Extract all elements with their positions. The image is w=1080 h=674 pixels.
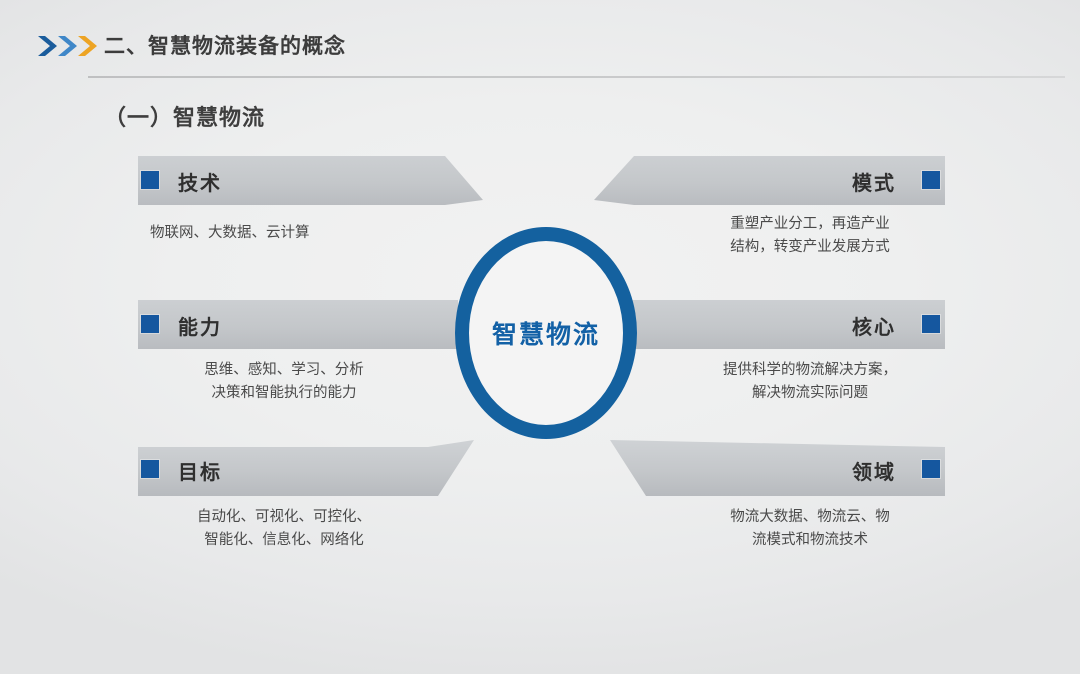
right-body-2: 提供科学的物流解决方案， 解决物流实际问题: [685, 359, 935, 405]
left-body-2: 思维、感知、学习、分析 决策和智能执行的能力: [150, 359, 418, 405]
left-body-1: 物联网、大数据、云计算: [150, 222, 430, 245]
right-bullet-2: [922, 315, 940, 333]
slide-canvas: 二、智慧物流装备的概念 （一）智慧物流: [0, 0, 1080, 674]
smart-logistics-diagram: 技术 物联网、大数据、云计算 能力 思维、感知、学习、分析 决策和智能执行的能力…: [0, 140, 1080, 580]
right-title-1: 模式: [852, 167, 896, 196]
chevron-group-icon: [36, 33, 102, 59]
right-title-2: 核心: [852, 311, 896, 340]
left-title-1: 技术: [178, 167, 222, 196]
left-title-2: 能力: [178, 311, 222, 340]
right-connector-2: [620, 300, 946, 349]
page-title: 二、智慧物流装备的概念: [104, 30, 346, 60]
left-bullet-2: [141, 315, 159, 333]
left-body-3: 自动化、可视化、可控化、 智能化、信息化、网络化: [150, 506, 418, 552]
left-title-3: 目标: [178, 456, 222, 485]
center-label: 智慧物流: [492, 315, 600, 351]
right-bullet-1: [922, 171, 940, 189]
center-circle: 智慧物流: [455, 227, 637, 439]
section-subtitle: （一）智慧物流: [104, 100, 265, 132]
watermark: [780, 600, 1060, 660]
header-divider: [88, 76, 1065, 78]
right-body-3: 物流大数据、物流云、物 流模式和物流技术: [685, 506, 935, 552]
right-title-3: 领域: [852, 456, 896, 485]
right-bullet-3: [922, 460, 940, 478]
left-bullet-1: [141, 171, 159, 189]
right-body-1: 重塑产业分工，再造产业 结构，转变产业发展方式: [685, 213, 935, 259]
left-bullet-3: [141, 460, 159, 478]
